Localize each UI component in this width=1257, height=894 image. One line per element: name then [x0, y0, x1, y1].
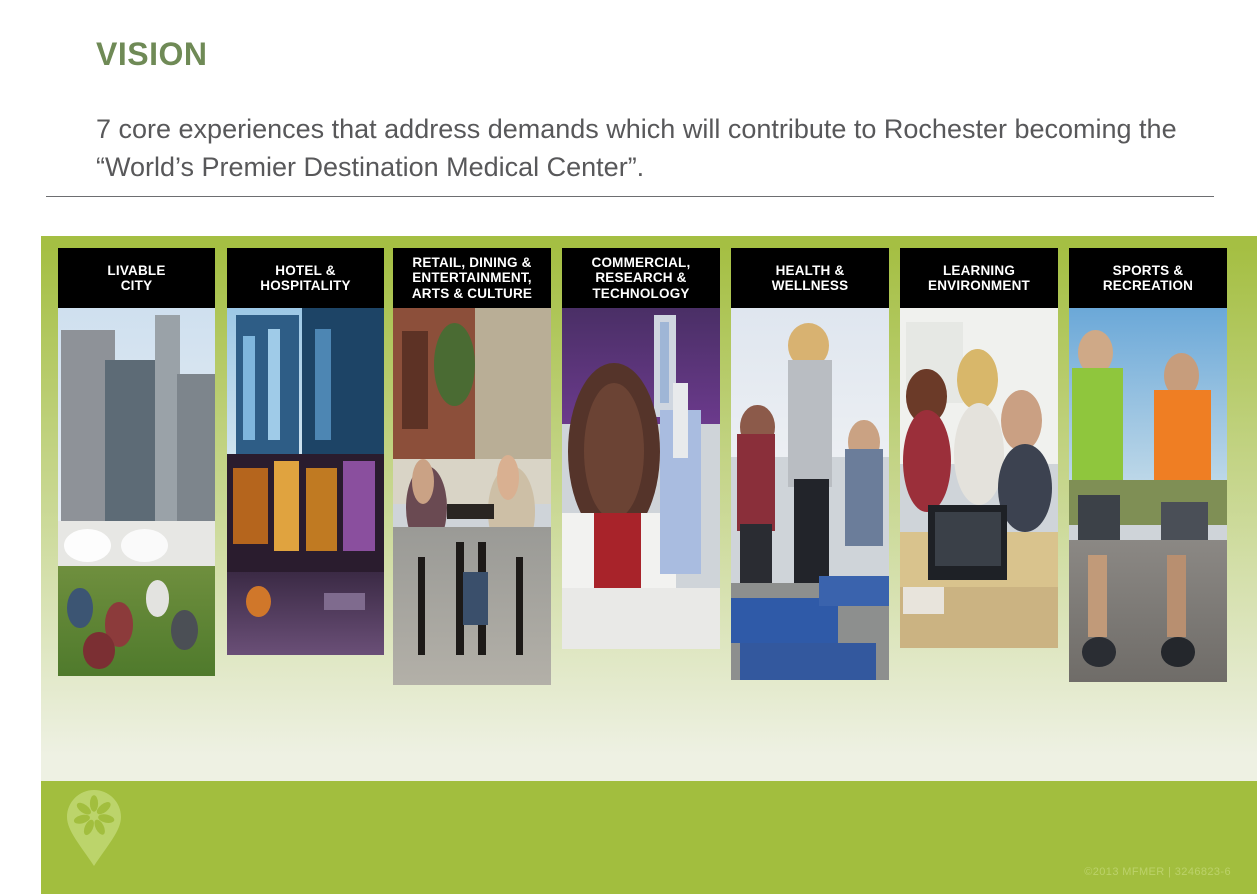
- page-title: VISION: [96, 36, 207, 73]
- experience-photo-sports-recreation: [1069, 308, 1227, 682]
- experience-columns-container: LIVABLE CITY HOTEL & HOSPITALITY: [41, 236, 1257, 781]
- experience-column-health-wellness[interactable]: HEALTH & WELLNESS: [731, 248, 889, 680]
- experience-column-sports-recreation[interactable]: SPORTS & RECREATION: [1069, 248, 1227, 682]
- experience-header-commercial-research-technology: COMMERCIAL, RESEARCH & TECHNOLOGY: [562, 248, 720, 308]
- experience-photo-retail-dining-entertainment-arts-culture: [393, 308, 551, 685]
- copyright-text: ©2013 MFMER | 3246823-6: [1084, 866, 1231, 878]
- experience-column-commercial-research-technology[interactable]: COMMERCIAL, RESEARCH & TECHNOLOGY: [562, 248, 720, 649]
- experience-photo-hotel-hospitality: [227, 308, 384, 655]
- experiences-panel: LIVABLE CITY HOTEL & HOSPITALITY: [41, 236, 1257, 781]
- experience-header-health-wellness: HEALTH & WELLNESS: [731, 248, 889, 308]
- slide-subtitle: 7 core experiences that address demands …: [96, 110, 1216, 186]
- experience-header-sports-recreation: SPORTS & RECREATION: [1069, 248, 1227, 308]
- experience-photo-learning-environment: [900, 308, 1058, 648]
- experience-header-retail-dining-entertainment-arts-culture: RETAIL, DINING & ENTERTAINMENT, ARTS & C…: [393, 248, 551, 308]
- mayo-clinic-pin-logo: [67, 790, 121, 866]
- experience-photo-health-wellness: [731, 308, 889, 680]
- experience-photo-commercial-research-technology: [562, 308, 720, 649]
- experience-column-hotel-hospitality[interactable]: HOTEL & HOSPITALITY: [227, 248, 384, 655]
- experience-header-hotel-hospitality: HOTEL & HOSPITALITY: [227, 248, 384, 308]
- experience-column-livable-city[interactable]: LIVABLE CITY: [58, 248, 215, 676]
- experience-header-learning-environment: LEARNING ENVIRONMENT: [900, 248, 1058, 308]
- footer-band: ©2013 MFMER | 3246823-6: [41, 781, 1257, 894]
- title-divider: [46, 196, 1214, 197]
- experience-header-livable-city: LIVABLE CITY: [58, 248, 215, 308]
- experience-column-learning-environment[interactable]: LEARNING ENVIRONMENT: [900, 248, 1058, 648]
- experience-column-retail-dining-entertainment-arts-culture[interactable]: RETAIL, DINING & ENTERTAINMENT, ARTS & C…: [393, 248, 551, 685]
- experience-photo-livable-city: [58, 308, 215, 676]
